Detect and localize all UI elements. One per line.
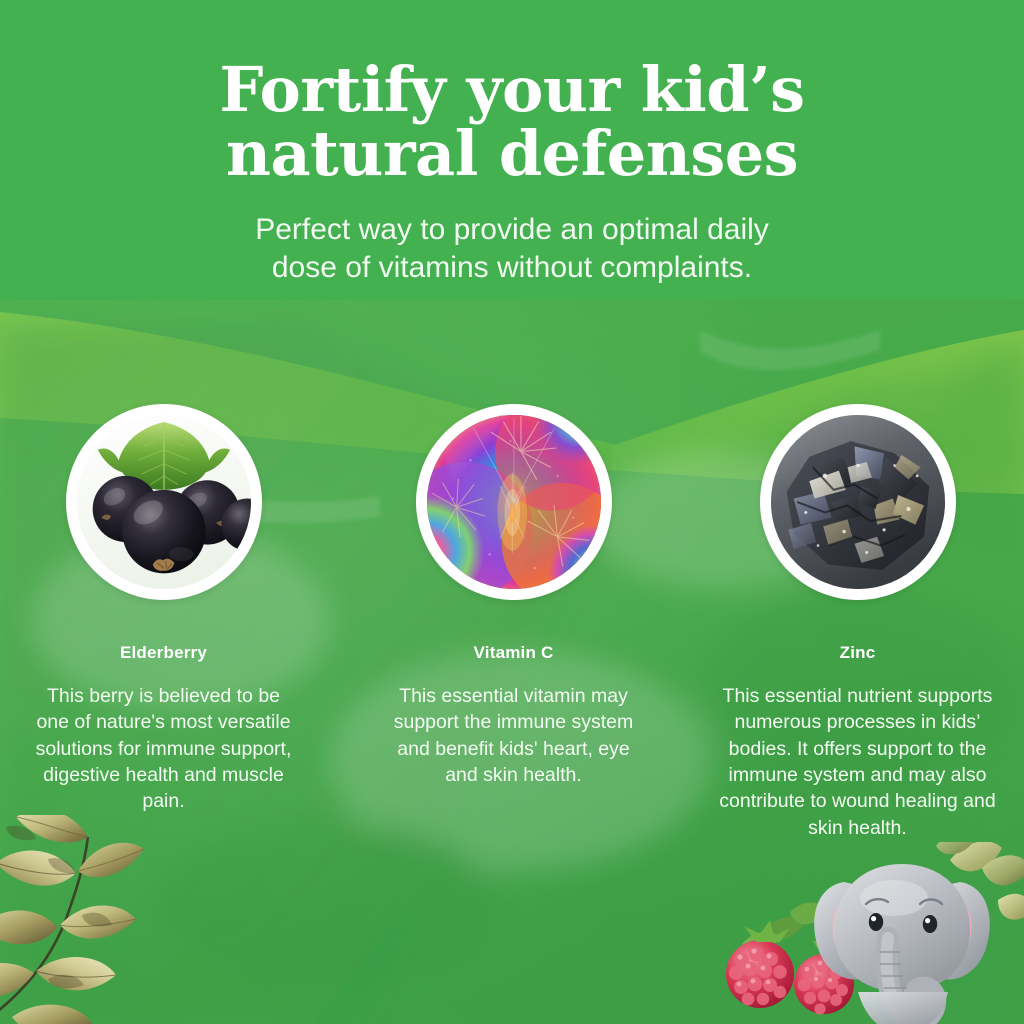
headline-line-1: Fortify your kid’s (219, 53, 804, 126)
zinc-mineral-photo (771, 415, 945, 589)
page-title: Fortify your kid’s natural defenses (0, 0, 1024, 187)
zinc-image-ring (760, 404, 956, 600)
elderberry-image-ring (66, 404, 262, 600)
ingredient-title-vitamin-c: Vitamin C (474, 643, 554, 663)
ingredient-description-zinc: This essential nutrient supports numerou… (715, 683, 1001, 841)
vitamin-c-crystals-photo (427, 415, 601, 589)
ingredient-title-elderberry: Elderberry (120, 643, 207, 663)
subhead-line-1: Perfect way to provide an optimal daily (255, 213, 769, 246)
ingredient-description-elderberry: This berry is believed to be one of natu… (29, 683, 299, 815)
elderberry-photo (77, 415, 251, 589)
header-block: Fortify your kid’s natural defenses Perf… (0, 0, 1024, 288)
ingredient-title-zinc: Zinc (840, 643, 876, 663)
ingredient-card-zinc: Zinc This essential nutrient supports nu… (682, 404, 1023, 841)
infographic-page: Fortify your kid’s natural defenses Perf… (0, 0, 1024, 1024)
ingredient-card-elderberry: Elderberry This berry is believed to be … (0, 404, 341, 841)
ingredient-card-vitamin-c: Vitamin C This essential vitamin may sup… (341, 404, 682, 841)
vitamin-c-image-ring (416, 404, 612, 600)
subhead-line-2: dose of vitamins without complaints. (0, 249, 1024, 287)
headline-line-2: natural defenses (0, 122, 1024, 186)
ingredient-description-vitamin-c: This essential vitamin may support the i… (394, 683, 634, 788)
ingredient-list: Elderberry This berry is believed to be … (0, 404, 1024, 841)
page-subtitle: Perfect way to provide an optimal daily … (0, 187, 1024, 288)
